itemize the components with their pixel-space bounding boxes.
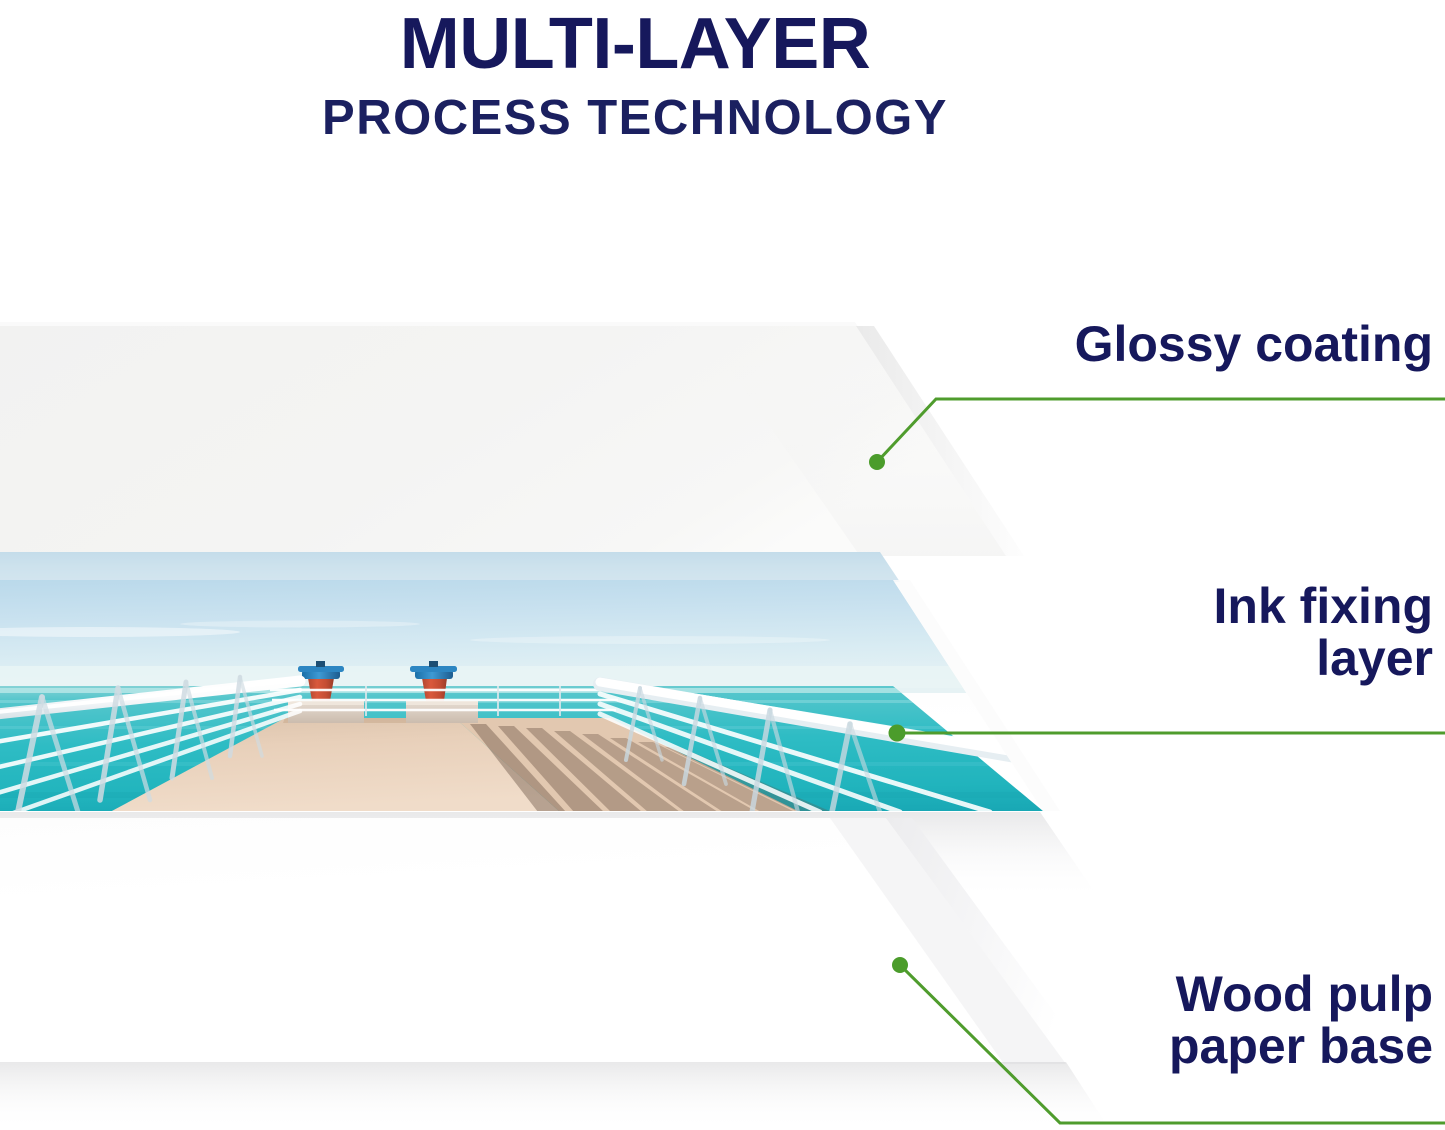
title-line-primary: MULTI-LAYER [0,0,1270,88]
layer-label-glossy-coating: Glossy coating [1075,318,1433,370]
pedestal-top-right [406,701,478,705]
leader-line-glossy-coating [877,399,1445,462]
leader-dot-wood-pulp [892,957,908,973]
telescope-eyepiece-left [316,661,325,667]
paper-base-shadow [0,1062,1110,1130]
leader-dot-glossy-coating [869,454,885,470]
label-line-2: paper base [1169,1018,1433,1074]
infographic-canvas: MULTI-LAYER PROCESS TECHNOLOGY Glossy co… [0,0,1445,1130]
photo-cloud [470,636,830,644]
layer-wood-pulp-paper-base [0,818,1110,1130]
telescope-eyepiece-right [429,661,438,667]
multi-layer-stack-illustration [0,0,1445,1130]
layer-ink-fixing [0,552,1080,832]
title-line-secondary: PROCESS TECHNOLOGY [0,88,1270,148]
label-line-2: layer [1316,630,1433,686]
label-line-1: Wood pulp [1176,966,1433,1022]
label-line-1: Ink fixing [1214,578,1433,634]
layer-glossy-coating [0,322,1024,556]
page-title: MULTI-LAYER PROCESS TECHNOLOGY [0,0,1270,148]
layer-label-wood-pulp-paper-base: Wood pulppaper base [1169,968,1433,1072]
photo-top-bevel [0,552,900,582]
layer-label-ink-fixing: Ink fixinglayer [1214,580,1433,684]
photo-cloud [180,621,420,628]
leader-dot-ink-fixing [889,725,906,742]
photo-horizon-haze [0,666,1080,688]
